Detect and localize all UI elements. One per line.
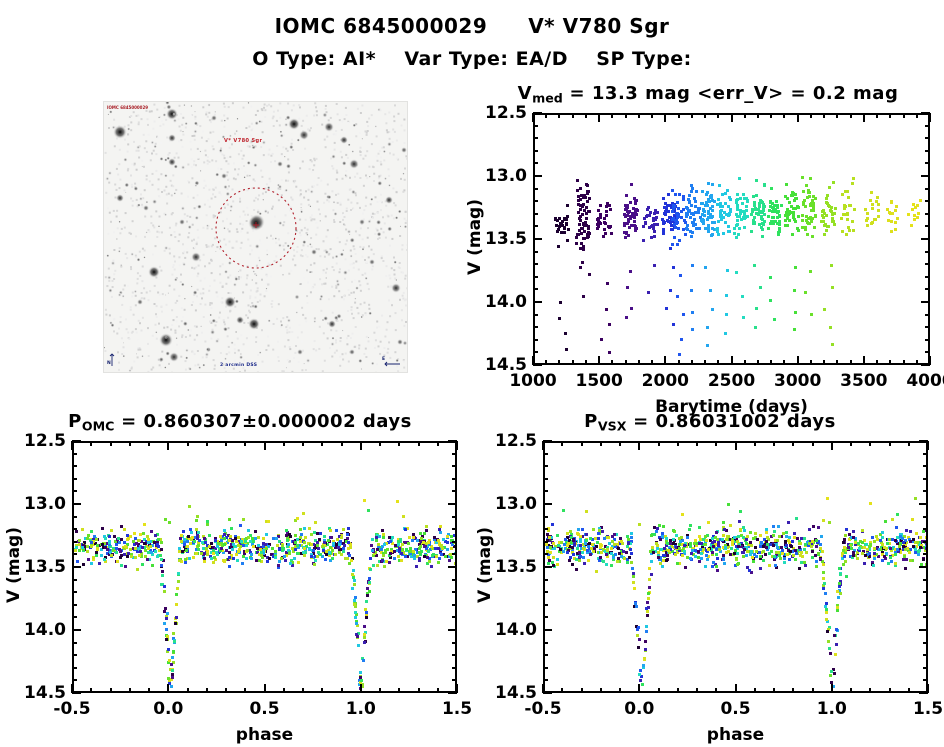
data-point xyxy=(809,270,812,273)
data-point xyxy=(724,332,727,335)
data-point xyxy=(807,191,810,194)
data-point xyxy=(677,227,680,230)
axis-tick-minor xyxy=(850,360,852,365)
axis-tick-minor xyxy=(452,591,457,593)
axis-tick xyxy=(735,441,737,450)
data-point xyxy=(291,564,294,567)
data-point xyxy=(581,213,584,216)
data-point xyxy=(196,515,199,518)
axis-tick-minor xyxy=(651,360,653,365)
data-point xyxy=(909,530,912,533)
axis-tick-minor xyxy=(72,516,77,518)
data-point xyxy=(825,229,828,232)
data-point xyxy=(607,225,610,228)
data-point xyxy=(739,209,742,212)
data-point xyxy=(362,659,365,662)
data-point xyxy=(821,550,824,553)
data-point xyxy=(605,553,608,556)
data-point xyxy=(735,213,738,216)
data-point xyxy=(258,559,261,562)
data-point xyxy=(647,206,650,209)
data-point xyxy=(661,565,664,568)
data-point xyxy=(716,203,719,206)
data-point xyxy=(619,537,622,540)
data-point xyxy=(625,232,628,235)
data-point xyxy=(629,215,632,218)
data-point xyxy=(178,559,181,562)
axis-tick xyxy=(638,441,640,450)
data-point xyxy=(674,226,677,229)
data-point xyxy=(120,538,123,541)
data-point xyxy=(680,536,683,539)
data-point xyxy=(754,326,757,329)
axis-tick-minor xyxy=(638,360,640,365)
axis-tick xyxy=(919,503,928,505)
data-point xyxy=(715,565,718,568)
data-point xyxy=(165,617,168,620)
data-point xyxy=(450,547,453,550)
data-point xyxy=(265,533,268,536)
data-point xyxy=(166,635,169,638)
data-point xyxy=(110,529,113,532)
data-point xyxy=(393,557,396,560)
data-point xyxy=(591,543,594,546)
errv-value: 0.2 xyxy=(813,83,846,104)
axis-tick xyxy=(72,440,81,442)
data-point xyxy=(582,556,585,559)
axis-tick xyxy=(927,441,929,450)
data-point xyxy=(750,544,753,547)
data-point xyxy=(890,200,893,203)
data-point xyxy=(731,542,734,545)
finder-scale-label: 2 arcmin DSS xyxy=(220,363,257,368)
data-point xyxy=(440,553,443,556)
data-point xyxy=(635,605,638,608)
data-point xyxy=(700,552,703,555)
data-point xyxy=(687,198,690,201)
data-point xyxy=(838,567,841,570)
data-point xyxy=(213,556,216,559)
axis-tick xyxy=(264,441,266,450)
data-point xyxy=(577,211,580,214)
data-point xyxy=(769,201,772,204)
axis-tick-minor xyxy=(677,441,679,446)
data-point xyxy=(246,549,249,552)
data-point xyxy=(864,554,867,557)
data-point xyxy=(722,216,725,219)
data-point xyxy=(552,564,555,567)
data-point xyxy=(338,543,341,546)
data-point xyxy=(278,560,281,563)
axis-tick-minor xyxy=(72,528,77,530)
data-point xyxy=(806,196,809,199)
axis-tick-minor xyxy=(379,688,381,693)
data-point xyxy=(763,184,766,187)
data-point xyxy=(826,194,829,197)
data-point xyxy=(173,640,176,643)
data-point xyxy=(655,542,658,545)
axis-tick-minor xyxy=(533,314,538,316)
data-point xyxy=(577,528,580,531)
data-point xyxy=(576,179,579,182)
data-point xyxy=(754,532,757,535)
data-point xyxy=(286,539,289,542)
data-point xyxy=(745,554,748,557)
data-point xyxy=(682,198,685,201)
axis-tick-minor xyxy=(638,113,640,118)
data-point xyxy=(566,551,569,554)
data-point xyxy=(890,560,893,563)
data-point xyxy=(401,543,404,546)
axis-tick-minor xyxy=(187,688,189,693)
data-point xyxy=(568,559,571,562)
axis-tick-minor xyxy=(533,125,538,127)
data-point xyxy=(854,541,857,544)
y-tick-label: 12.5 xyxy=(0,431,66,451)
axis-tick-minor xyxy=(90,441,92,446)
data-point xyxy=(794,558,797,561)
lightcurve-title: Vmed = 13.3 mag <err_V> = 0.2 mag xyxy=(472,83,944,106)
data-point xyxy=(212,552,215,555)
axis-tick-minor xyxy=(757,360,759,365)
x-tick-label: 1.5 xyxy=(883,699,944,719)
data-point xyxy=(192,556,195,559)
data-point xyxy=(637,646,640,649)
axis-tick-minor xyxy=(533,225,538,227)
data-point xyxy=(133,532,136,535)
data-point xyxy=(727,230,730,233)
axis-tick xyxy=(360,684,362,693)
axis-tick-minor xyxy=(889,441,891,446)
axis-tick-minor xyxy=(754,441,756,446)
data-point xyxy=(245,544,248,547)
data-point xyxy=(633,220,636,223)
data-point xyxy=(683,544,686,547)
data-point xyxy=(698,526,701,529)
data-point xyxy=(136,568,139,571)
data-point xyxy=(649,211,652,214)
data-point xyxy=(762,545,765,548)
data-point xyxy=(163,622,166,625)
axis-tick xyxy=(731,113,733,122)
data-point xyxy=(404,555,407,558)
data-point xyxy=(348,554,351,557)
data-point xyxy=(545,543,548,546)
data-point xyxy=(691,264,694,267)
axis-tick-minor xyxy=(452,616,457,618)
data-point xyxy=(382,536,385,539)
data-point xyxy=(917,212,920,215)
data-point xyxy=(884,520,887,523)
data-point xyxy=(448,559,451,562)
axis-tick-minor xyxy=(533,150,538,152)
axis-tick-minor xyxy=(452,541,457,543)
axis-tick-minor xyxy=(696,441,698,446)
data-point xyxy=(325,553,328,556)
axis-tick-minor xyxy=(543,516,548,518)
data-point xyxy=(809,177,812,180)
axis-tick-minor xyxy=(72,679,77,681)
data-point xyxy=(736,219,739,222)
data-point xyxy=(819,558,822,561)
data-point xyxy=(250,553,253,556)
data-point xyxy=(398,550,401,553)
data-point xyxy=(369,557,372,560)
data-point xyxy=(711,537,714,540)
data-point xyxy=(579,198,582,201)
data-point xyxy=(603,217,606,220)
data-point xyxy=(768,552,771,555)
axis-tick-minor xyxy=(72,579,77,581)
data-point xyxy=(252,540,255,543)
y-tick-label: 14.0 xyxy=(0,620,66,640)
data-point xyxy=(729,524,732,527)
data-point xyxy=(801,226,804,229)
data-point xyxy=(363,625,366,628)
axis-tick-minor xyxy=(923,591,928,593)
data-point xyxy=(244,540,247,543)
data-point xyxy=(678,547,681,550)
data-point xyxy=(418,551,421,554)
data-point xyxy=(630,307,633,310)
data-point xyxy=(610,547,613,550)
axis-tick xyxy=(929,113,931,122)
omc-id: IOMC 6845000029 xyxy=(275,14,488,38)
data-point xyxy=(303,541,306,544)
data-point xyxy=(680,338,683,341)
data-point xyxy=(916,216,919,219)
data-point xyxy=(351,587,354,590)
data-point xyxy=(718,184,721,187)
data-point xyxy=(694,539,697,542)
axis-tick-minor xyxy=(677,688,679,693)
data-point xyxy=(247,529,250,532)
data-point xyxy=(877,215,880,218)
data-point xyxy=(707,210,710,213)
data-point xyxy=(736,552,739,555)
data-point xyxy=(648,214,651,217)
data-point xyxy=(704,565,707,568)
data-point xyxy=(896,513,899,516)
data-point xyxy=(578,551,581,554)
data-point xyxy=(623,213,626,216)
data-point xyxy=(911,518,914,521)
object-classification: O Type: AI* Var Type: EA/D SP Type: xyxy=(0,48,944,70)
axis-tick-minor xyxy=(691,360,693,365)
finder-chart-image: V* V780 Sgr IOMC 6845000029 2 arcmin DSS… xyxy=(103,101,408,373)
data-point xyxy=(659,562,662,565)
data-point xyxy=(663,221,666,224)
data-point xyxy=(547,556,550,559)
data-point xyxy=(578,559,581,562)
data-point xyxy=(647,592,650,595)
data-point xyxy=(666,554,669,557)
data-point xyxy=(203,560,206,563)
axis-tick-minor xyxy=(72,553,77,555)
axis-tick-minor xyxy=(923,516,928,518)
data-point xyxy=(605,563,608,566)
data-point xyxy=(195,552,198,555)
axis-tick-minor xyxy=(572,360,574,365)
data-point xyxy=(150,530,153,533)
data-point xyxy=(134,556,137,559)
axis-tick-minor xyxy=(244,688,246,693)
data-point xyxy=(759,286,762,289)
axis-tick-minor xyxy=(543,616,548,618)
data-point xyxy=(369,568,372,571)
data-point xyxy=(925,547,928,550)
data-point xyxy=(700,542,703,545)
data-point xyxy=(760,211,763,214)
data-point xyxy=(142,532,145,535)
vmed-symbol: V xyxy=(518,83,532,104)
axis-tick-minor xyxy=(452,679,457,681)
data-point xyxy=(691,187,694,190)
data-point xyxy=(813,226,816,229)
data-point xyxy=(347,541,350,544)
data-point xyxy=(653,223,656,226)
data-point xyxy=(586,184,589,187)
data-point xyxy=(180,534,183,537)
axis-tick-minor xyxy=(625,113,627,118)
axis-tick-minor xyxy=(925,339,930,341)
data-point xyxy=(763,213,766,216)
axis-tick-minor xyxy=(783,113,785,118)
data-point xyxy=(682,228,685,231)
data-point xyxy=(615,533,618,536)
data-point xyxy=(797,229,800,232)
data-point xyxy=(554,217,557,220)
data-point xyxy=(584,224,587,227)
data-point xyxy=(711,183,714,186)
data-point xyxy=(826,497,829,500)
data-point xyxy=(581,528,584,531)
data-point xyxy=(691,212,694,215)
data-point xyxy=(185,549,188,552)
axis-tick-minor xyxy=(533,251,538,253)
data-point xyxy=(760,541,763,544)
data-point xyxy=(240,540,243,543)
axis-tick xyxy=(71,441,73,450)
data-point xyxy=(829,326,832,329)
axis-tick xyxy=(533,112,542,114)
axis-tick-minor xyxy=(72,616,77,618)
data-point xyxy=(704,543,707,546)
data-point xyxy=(160,564,163,567)
data-point xyxy=(800,551,803,554)
data-point xyxy=(357,644,360,647)
data-point xyxy=(317,547,320,550)
axis-tick-minor xyxy=(916,113,918,118)
data-point xyxy=(237,550,240,553)
data-point xyxy=(576,547,579,550)
data-point xyxy=(635,213,638,216)
finder-id-label: IOMC 6845000029 xyxy=(107,105,148,110)
data-point xyxy=(814,197,817,200)
data-point xyxy=(212,561,215,564)
data-point xyxy=(881,559,884,562)
data-point xyxy=(599,204,602,207)
axis-tick-minor xyxy=(812,441,814,446)
data-point xyxy=(807,222,810,225)
data-point xyxy=(868,545,871,548)
data-point xyxy=(919,536,922,539)
data-point xyxy=(896,548,899,551)
data-point xyxy=(775,200,778,203)
data-point xyxy=(722,521,725,524)
data-point xyxy=(600,338,603,341)
axis-tick xyxy=(638,684,640,693)
data-point xyxy=(96,548,99,551)
data-point xyxy=(706,218,709,221)
data-point xyxy=(768,564,771,567)
data-point xyxy=(229,535,232,538)
axis-tick xyxy=(542,441,544,450)
data-point xyxy=(701,202,704,205)
data-point xyxy=(697,556,700,559)
data-point xyxy=(418,557,421,560)
data-point xyxy=(288,552,291,555)
axis-tick-minor xyxy=(543,654,548,656)
axis-tick-minor xyxy=(600,441,602,446)
data-point xyxy=(126,538,129,541)
axis-tick xyxy=(72,566,81,568)
data-point xyxy=(865,219,868,222)
data-point xyxy=(579,544,582,547)
data-point xyxy=(78,539,81,542)
data-point xyxy=(562,550,565,553)
data-point xyxy=(804,543,807,546)
data-point xyxy=(762,223,765,226)
data-point xyxy=(826,630,829,633)
data-point xyxy=(383,565,386,568)
data-point xyxy=(913,218,916,221)
data-point xyxy=(161,570,164,573)
data-point xyxy=(639,679,642,682)
finder-star-label: V* V780 Sgr xyxy=(224,138,262,144)
data-point xyxy=(569,556,572,559)
axis-tick-minor xyxy=(72,478,77,480)
data-point xyxy=(303,554,306,557)
data-point xyxy=(769,222,772,225)
data-point xyxy=(368,577,371,580)
data-point xyxy=(319,532,322,535)
axis-tick-minor xyxy=(651,113,653,118)
data-point xyxy=(772,544,775,547)
axis-tick-minor xyxy=(543,490,548,492)
data-point xyxy=(822,571,825,574)
data-point xyxy=(164,607,167,610)
data-point xyxy=(653,230,656,233)
axis-tick-minor xyxy=(225,441,227,446)
data-point xyxy=(835,643,838,646)
data-point xyxy=(446,541,449,544)
data-point xyxy=(883,555,886,558)
data-point xyxy=(205,547,208,550)
data-point xyxy=(581,261,584,264)
data-point xyxy=(681,554,684,557)
data-point xyxy=(549,551,552,554)
data-point xyxy=(340,553,343,556)
data-point xyxy=(741,295,744,298)
data-point xyxy=(318,538,321,541)
axis-tick-minor xyxy=(925,326,930,328)
data-point xyxy=(707,521,710,524)
data-point xyxy=(143,542,146,545)
data-point xyxy=(412,536,415,539)
data-point xyxy=(412,550,415,553)
data-point xyxy=(579,266,582,269)
